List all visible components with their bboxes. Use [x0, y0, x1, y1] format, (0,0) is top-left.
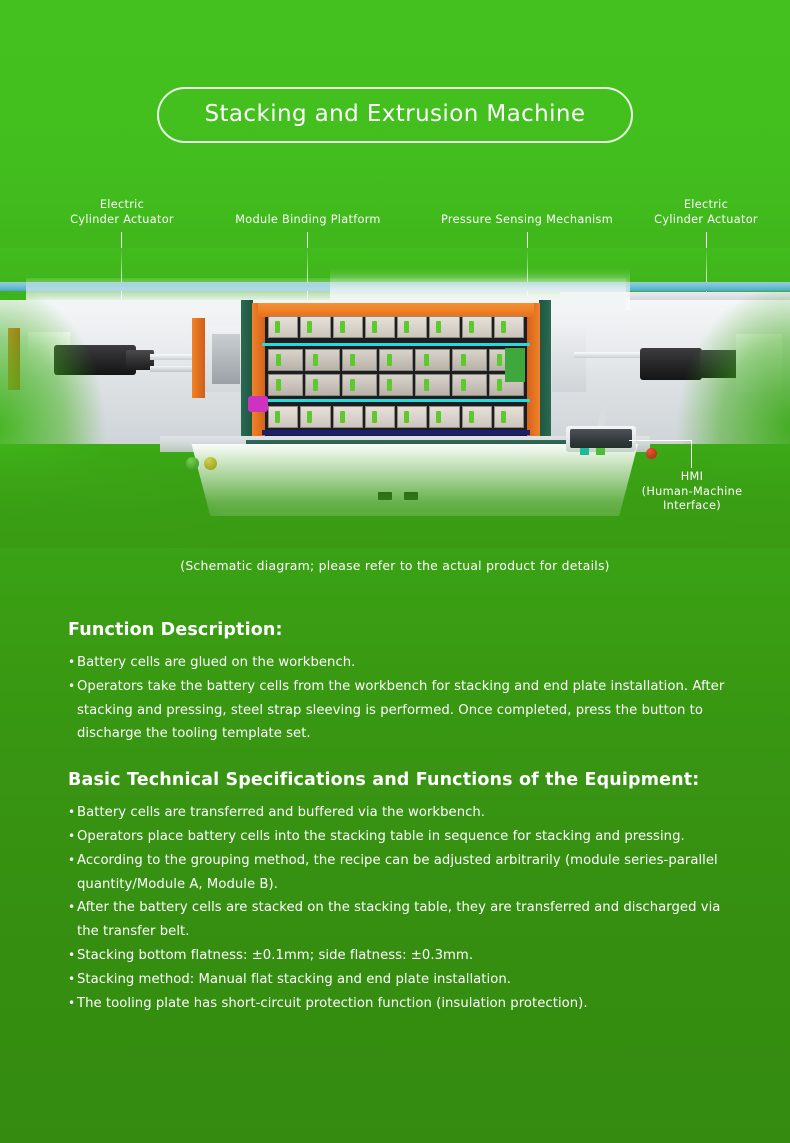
- technical-specifications-list: Battery cells are transferred and buffer…: [68, 801, 728, 1015]
- function-description-list: Battery cells are glued on the workbench…: [68, 651, 728, 746]
- battery-cell: [462, 406, 492, 428]
- technical-specifications-heading: Basic Technical Specifications and Funct…: [68, 770, 728, 790]
- bullet-item: Operators take the battery cells from th…: [68, 675, 728, 746]
- function-description-heading: Function Description:: [68, 620, 728, 640]
- battery-cell: [379, 374, 414, 396]
- battery-cell: [462, 316, 492, 338]
- stack-rail-top: [258, 303, 534, 317]
- callout-pressure-sensing-mechanism: Pressure Sensing Mechanism: [424, 213, 630, 228]
- sensor-block-green: [505, 348, 525, 382]
- battery-cell-row: [268, 349, 524, 371]
- battery-cell: [429, 316, 459, 338]
- battery-cell: [333, 316, 363, 338]
- insulation-plate: [262, 430, 530, 435]
- title-bar: Stacking and Extrusion Machine: [0, 0, 790, 143]
- bullet-item: The tooling plate has short-circuit prot…: [68, 992, 728, 1016]
- battery-cell: [494, 316, 524, 338]
- battery-cell: [365, 316, 395, 338]
- battery-cell: [305, 349, 340, 371]
- battery-cell: [300, 406, 330, 428]
- battery-cell: [342, 349, 377, 371]
- stack-end-plate-right: [539, 300, 551, 458]
- cyan-cable: [262, 399, 530, 402]
- battery-cell: [365, 406, 395, 428]
- callout-electric-cylinder-actuator-left: Electric Cylinder Actuator: [46, 198, 198, 227]
- leader-line-hmi-horizontal: [629, 440, 692, 441]
- battery-cell: [300, 316, 330, 338]
- bullet-item: Battery cells are transferred and buffer…: [68, 801, 728, 825]
- pressing-head-core: [212, 334, 240, 384]
- page-title: Stacking and Extrusion Machine: [157, 87, 634, 143]
- bullet-item: Battery cells are glued on the workbench…: [68, 651, 728, 675]
- cyan-cable: [262, 343, 530, 346]
- bullet-item: Stacking bottom flatness: ±0.1mm; side f…: [68, 944, 728, 968]
- description-content: Function Description: Battery cells are …: [68, 620, 728, 1015]
- orange-post-mid: [192, 318, 205, 398]
- callout-module-binding-platform: Module Binding Platform: [222, 213, 394, 228]
- battery-cell: [429, 406, 459, 428]
- battery-cell: [397, 406, 427, 428]
- battery-cell: [305, 374, 340, 396]
- battery-cell: [415, 374, 450, 396]
- battery-cell: [268, 316, 298, 338]
- battery-cell-row: [268, 316, 524, 338]
- battery-cell-row: [268, 374, 524, 396]
- battery-cell: [452, 374, 487, 396]
- battery-cell: [333, 406, 363, 428]
- battery-cell: [452, 349, 487, 371]
- battery-cell: [268, 374, 303, 396]
- bullet-item: Stacking method: Manual flat stacking an…: [68, 968, 728, 992]
- schematic-disclaimer: (Schematic diagram; please refer to the …: [0, 558, 790, 573]
- battery-cell: [379, 349, 414, 371]
- bullet-item: According to the grouping method, the re…: [68, 849, 728, 897]
- battery-cell: [494, 406, 524, 428]
- sensor-block-magenta: [248, 396, 268, 412]
- battery-cell: [268, 349, 303, 371]
- battery-cell-row: [268, 406, 524, 428]
- leader-line-hmi-vertical: [691, 440, 692, 468]
- callout-electric-cylinder-actuator-right: Electric Cylinder Actuator: [630, 198, 782, 227]
- battery-cell: [397, 316, 427, 338]
- callout-hmi: HMI (Human-Machine Interface): [618, 470, 766, 514]
- bullet-item: Operators place battery cells into the s…: [68, 825, 728, 849]
- pressure-sensing-plate: [552, 326, 586, 392]
- battery-cell: [415, 349, 450, 371]
- battery-cell: [342, 374, 377, 396]
- bullet-item: After the battery cells are stacked on t…: [68, 896, 728, 944]
